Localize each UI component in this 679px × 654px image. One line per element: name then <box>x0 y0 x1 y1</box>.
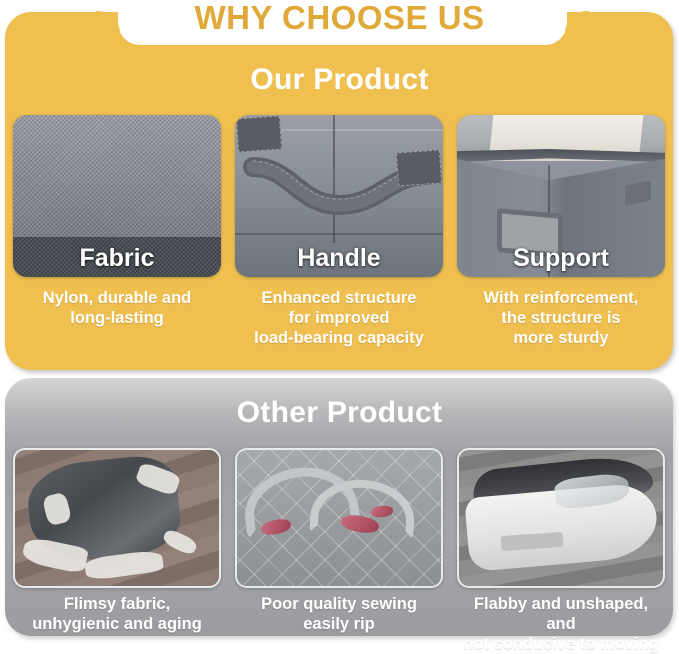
caption-fabric: Nylon, durable and long-lasting <box>13 288 221 348</box>
caption-flabby-line-2: not conducive to moving <box>457 634 665 654</box>
caption-sewing-line-2: easily rip <box>235 614 443 634</box>
caption-fabric-line-1: Nylon, durable and <box>13 288 221 308</box>
our-product-card-row: Fabric Handle <box>13 115 665 277</box>
page-title: WHY CHOOSE US <box>0 0 679 38</box>
caption-support-line-3: more sturdy <box>457 328 665 348</box>
handle-anchor-patch-left <box>236 116 282 153</box>
caption-flimsy-line-1: Flimsy fabric, <box>13 594 221 614</box>
handle-anchor-patch-right <box>396 150 442 187</box>
card-label-handle: Handle <box>235 239 443 277</box>
collapsed-shapeless-bag-photo <box>459 450 663 586</box>
fabric-flake <box>161 527 199 556</box>
our-product-card-fabric[interactable]: Fabric <box>13 115 221 277</box>
our-product-caption-row: Nylon, durable and long-lasting Enhanced… <box>13 288 665 348</box>
caption-flabby: Flabby and unshaped, and not conducive t… <box>457 594 665 654</box>
other-product-card-flabby[interactable] <box>457 448 665 588</box>
caption-support-line-1: With reinforcement, <box>457 288 665 308</box>
other-product-card-sewing[interactable] <box>235 448 443 588</box>
other-product-card-flimsy[interactable] <box>13 448 221 588</box>
caption-flabby-line-1: Flabby and unshaped, and <box>457 594 665 634</box>
damaged-flaking-bag-photo <box>15 450 219 586</box>
caption-support: With reinforcement, the structure is mor… <box>457 288 665 348</box>
caption-fabric-line-2: long-lasting <box>13 308 221 328</box>
box-horizontal-seam <box>235 233 443 235</box>
card-label-fabric: Fabric <box>13 239 221 277</box>
caption-handle-line-1: Enhanced structure <box>235 288 443 308</box>
our-product-heading: Our Product <box>0 63 679 97</box>
caption-handle: Enhanced structure for improved load-bea… <box>235 288 443 348</box>
caption-flimsy-line-2: unhygienic and aging <box>13 614 221 634</box>
torn-handle-stitching-photo <box>237 450 441 586</box>
caption-sewing-line-1: Poor quality sewing <box>235 594 443 614</box>
our-product-card-support[interactable]: Support <box>457 115 665 277</box>
caption-sewing: Poor quality sewing easily rip <box>235 594 443 654</box>
caption-handle-line-3: load-bearing capacity <box>235 328 443 348</box>
other-product-caption-row: Flimsy fabric, unhygienic and aging Poor… <box>13 594 665 654</box>
card-label-support: Support <box>457 239 665 277</box>
other-product-heading: Other Product <box>0 396 679 430</box>
caption-support-line-2: the structure is <box>457 308 665 328</box>
caption-handle-line-2: for improved <box>235 308 443 328</box>
caption-flimsy: Flimsy fabric, unhygienic and aging <box>13 594 221 654</box>
other-product-card-row <box>13 448 665 588</box>
our-product-card-handle[interactable]: Handle <box>235 115 443 277</box>
why-choose-us-infographic: WHY CHOOSE US Our Product Fabric <box>0 0 679 645</box>
